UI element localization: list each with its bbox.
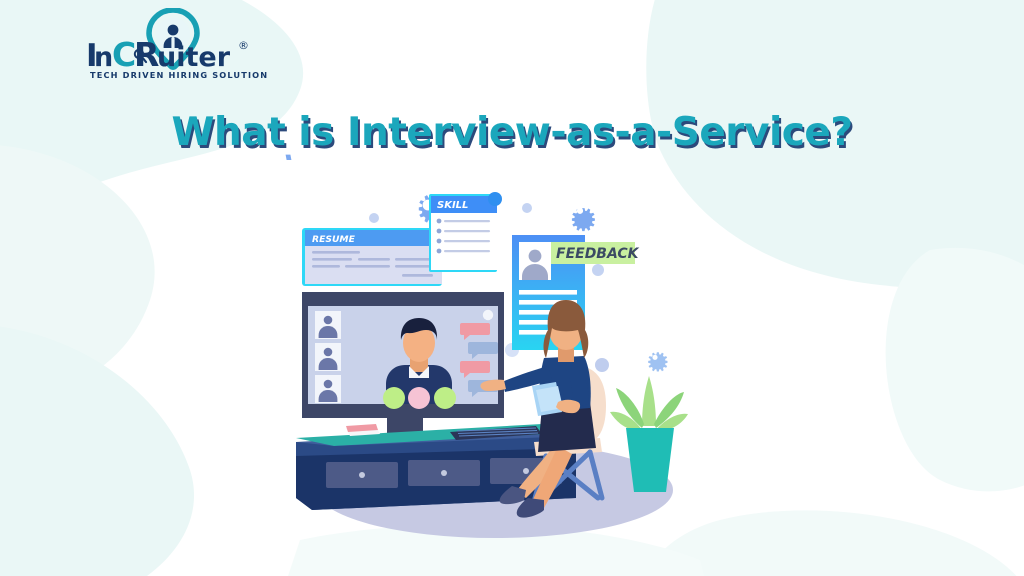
control-button-green-right[interactable]: [434, 387, 456, 409]
resume-card-label: RESUME: [312, 234, 356, 245]
decorative-dot: [595, 358, 609, 372]
drawer-handle: [441, 470, 447, 476]
svg-text:C: C: [112, 35, 135, 74]
decorative-dot: [592, 264, 604, 276]
registered-trademark-icon: ®: [238, 39, 249, 52]
drawer-handle: [523, 468, 529, 474]
svg-text:n: n: [94, 42, 113, 73]
blob-left-mid: [0, 144, 155, 401]
video-call-screen[interactable]: [302, 292, 504, 443]
participant-thumbnail: [315, 375, 341, 403]
accent-dot-blue: [488, 192, 502, 206]
control-button-pink-center[interactable]: [408, 387, 430, 409]
interview-as-a-service-illustration: RESUME SKILL: [290, 180, 730, 555]
decorative-dot: [522, 203, 532, 213]
screen-status-dot: [483, 310, 493, 320]
incruiter-logo[interactable]: I n C R uiter ® TECH DRIVEN HIRING SOLUT…: [78, 8, 268, 80]
participant-thumbnail: [315, 343, 341, 371]
blob-bottom-left: [0, 324, 194, 576]
plant-leaf: [642, 376, 656, 426]
feedback-card-label: FEEDBACK: [556, 246, 640, 262]
page-title: What is Interview-as-a-Service?: [0, 110, 1024, 155]
drawer-handle: [359, 472, 365, 478]
logo-tagline: TECH DRIVEN HIRING SOLUTION: [90, 70, 268, 80]
svg-text:uiter: uiter: [157, 42, 231, 73]
pin-person-head: [168, 25, 179, 36]
gear-icon-bottom: [648, 352, 667, 371]
blob-right-lower: [886, 248, 1024, 492]
plant-pot: [626, 428, 674, 492]
resume-card[interactable]: RESUME: [302, 223, 446, 287]
decorative-dot: [369, 213, 379, 223]
svg-text:R: R: [134, 35, 159, 74]
participant-thumbnail: [315, 311, 341, 339]
slide-canvas: I n C R uiter ® TECH DRIVEN HIRING SOLUT…: [0, 0, 1024, 576]
skill-card[interactable]: SKILL: [429, 192, 502, 272]
control-button-green-left[interactable]: [383, 387, 405, 409]
desk-book: [346, 424, 380, 436]
skill-card-label: SKILL: [437, 200, 468, 211]
